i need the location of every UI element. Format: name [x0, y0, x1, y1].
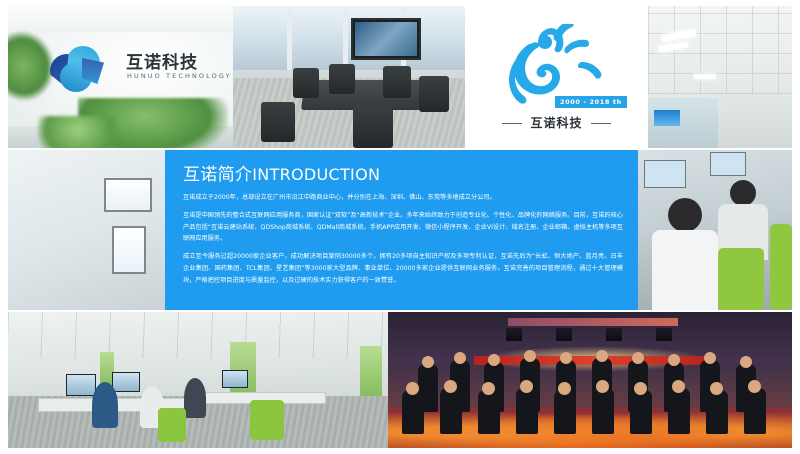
panel-paragraph: 互诺成立于2000年，总部设立在广州市沿江中路商业中心，并分别在上海、深圳、佛山… [183, 192, 623, 204]
mid-band: 互诺简介INTRODUCTION 互诺成立于2000年，总部设立在广州市沿江中路… [8, 150, 792, 310]
meeting-window [233, 6, 465, 70]
anniversary-mark-group: 2000 - 2018 th [487, 18, 627, 114]
panel-paragraph: 成立至今服务过超20000家企业客户，成功解决项目案例30000多个，拥有20多… [183, 251, 623, 286]
panel-title: 互诺简介INTRODUCTION [183, 160, 380, 185]
photo-band-left [8, 150, 168, 310]
anniversary-year-badge: 2000 - 2018 th [555, 96, 627, 108]
hunuo-infinity-mark-icon [48, 44, 114, 96]
photo-band-right [638, 150, 792, 310]
photo-brand-panel: 2000 - 2018 th 互诺科技 [465, 6, 648, 148]
panel-title-en: INTRODUCTION [252, 165, 380, 184]
brand-company-name-text: 互诺科技 [530, 116, 582, 130]
plant-bottom-small [38, 116, 118, 148]
panel-body: 互诺成立于2000年，总部设立在广州市沿江中路商业中心，并分别在上海、深圳、佛山… [183, 192, 623, 293]
brand-company-name: 互诺科技 [465, 114, 648, 131]
wall-company-name-en: HUNUO TECHNOLOGY [127, 72, 232, 80]
photo-office-top-right [648, 6, 792, 148]
panel-paragraph: 互诺是中国领先的整合式互联网应用服务商，国家认证“双软”及“高新技术”企业。多年… [183, 210, 623, 245]
collage-canvas: 互诺科技 HUNUO TECHNOLOGY [0, 0, 800, 454]
wall-company-name-cn: 互诺科技 [126, 48, 198, 73]
office-bl-ceiling [8, 312, 388, 358]
photo-office-bottom-left [8, 312, 388, 448]
photo-meeting-room [233, 6, 465, 148]
band-left-monitor-icon [104, 178, 152, 212]
stage-banner [508, 318, 678, 326]
band-left-tablet-icon [112, 226, 146, 274]
photo-group [388, 312, 792, 448]
introduction-panel: 互诺简介INTRODUCTION 互诺成立于2000年，总部设立在广州市沿江中路… [165, 150, 638, 310]
wall-display-icon [351, 18, 421, 60]
photo-lobby: 互诺科技 HUNUO TECHNOLOGY [8, 6, 233, 148]
panel-title-cn: 互诺简介 [183, 165, 252, 185]
office-monitor-icon [654, 110, 680, 126]
